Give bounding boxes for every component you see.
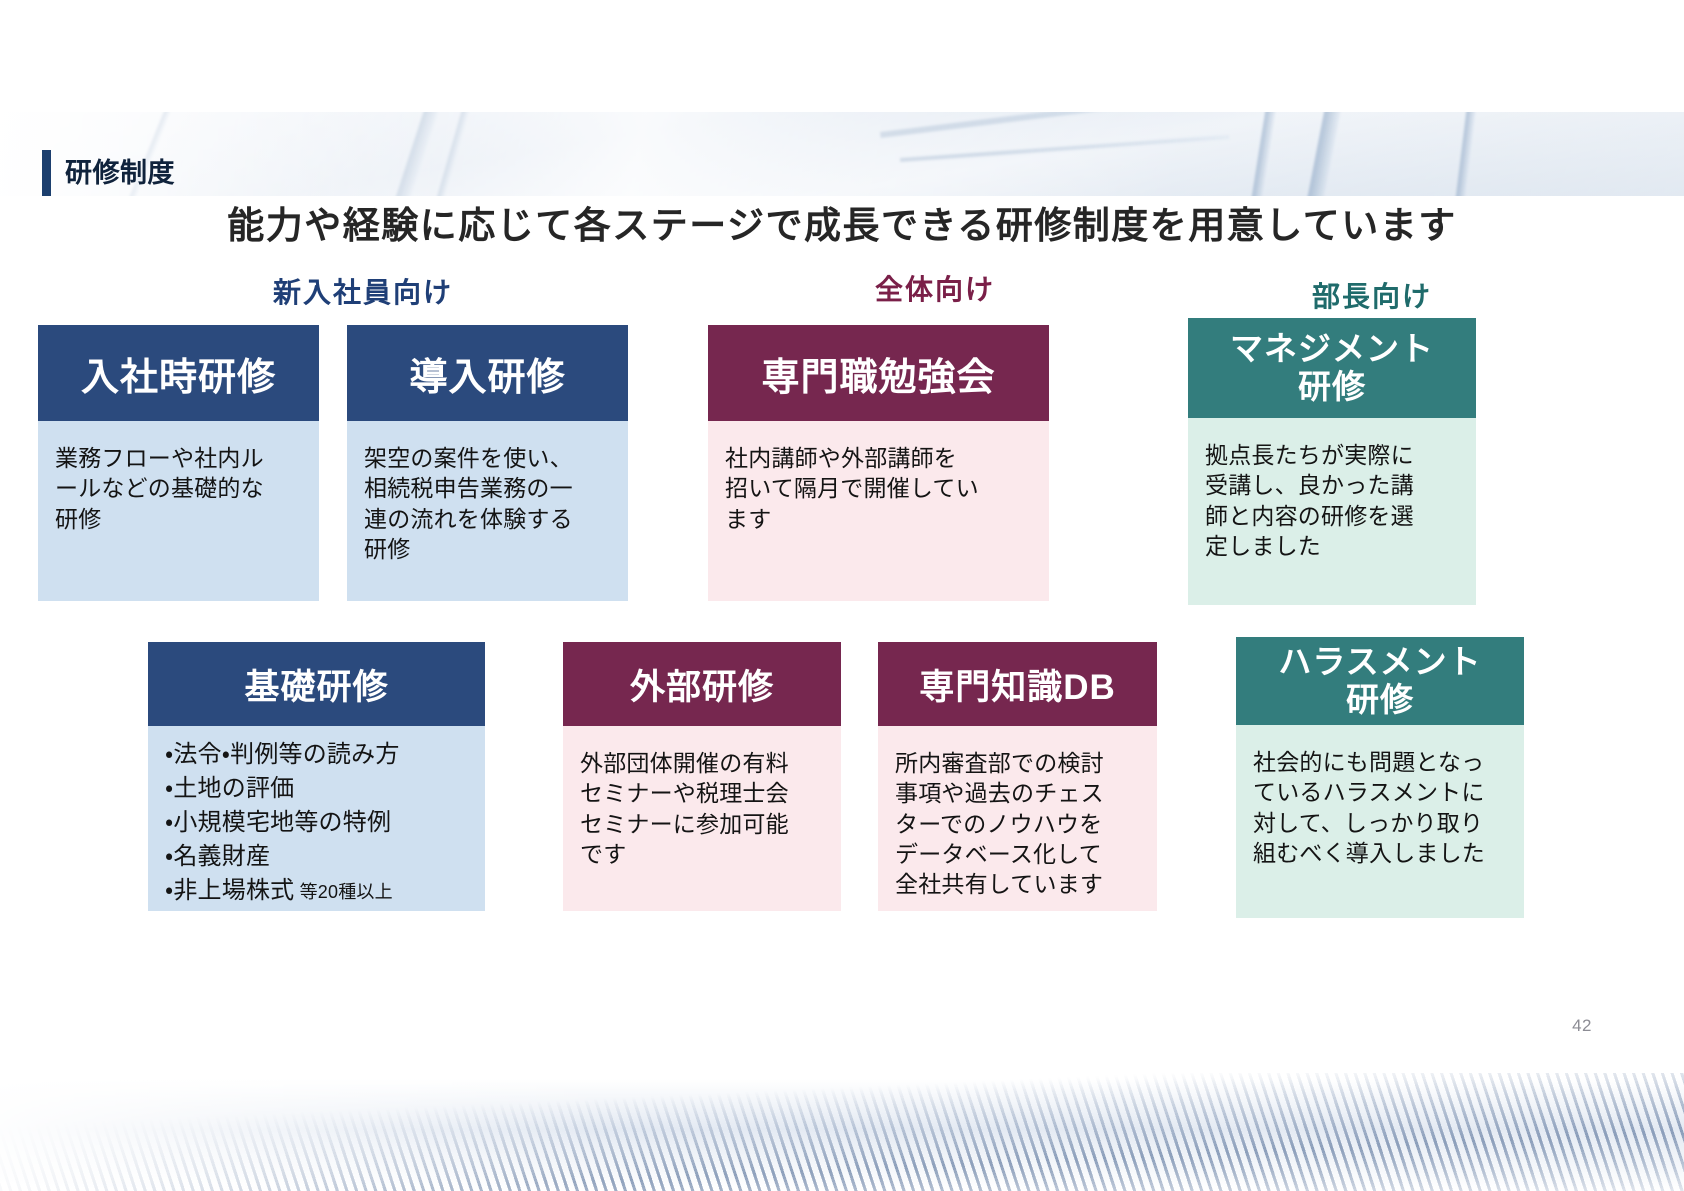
audience-label-new-employees: 新入社員向け [273, 271, 453, 311]
training-card-benkyokai[interactable]: 専門職勉強会 社内講師や外部講師を 招いて隔月で開催してい ます [708, 325, 1049, 601]
page-number: 42 [1572, 1016, 1592, 1036]
footer-decorative-graphic [0, 1073, 1684, 1191]
list-item-label: ・土地の評価 [165, 775, 294, 802]
list-item: ・土地の評価 [165, 772, 468, 806]
training-card-donyu[interactable]: 導入研修 架空の案件を使い、 相続税申告業務の一 連の流れを体験する 研修 [347, 325, 628, 601]
training-card-db[interactable]: 専門知識DB 所内審査部での検討 事項や過去のチェス ターでのノウハウを データ… [878, 642, 1157, 911]
audience-label-managers: 部長向け [1312, 275, 1432, 315]
training-card-gaibu[interactable]: 外部研修 外部団体開催の有料 セミナーや税理士会 セミナーに参加可能 です [563, 642, 841, 911]
list-item-suffix: 等20種以上 [294, 882, 392, 902]
training-card-donyu-title: 導入研修 [347, 325, 628, 421]
training-card-gaibu-title: 外部研修 [563, 642, 841, 726]
audience-label-all-staff: 全体向け [875, 268, 995, 308]
training-card-harassment[interactable]: ハラスメント 研修 社会的にも問題となっ ているハラスメントに 対して、しっかり… [1236, 637, 1524, 918]
training-card-donyu-body: 架空の案件を使い、 相続税申告業務の一 連の流れを体験する 研修 [347, 421, 628, 601]
list-item-label: ・名義財産 [165, 843, 270, 870]
training-card-management-title: マネジメント 研修 [1188, 318, 1476, 418]
training-card-harassment-body: 社会的にも問題となっ ているハラスメントに 対して、しっかり取り 組むべく導入し… [1236, 725, 1524, 918]
list-item: ・非上場株式 等20種以上 [165, 874, 468, 908]
training-card-management-body: 拠点長たちが実際に 受講し、良かった講 師と内容の研修を選 定しました [1188, 418, 1476, 605]
list-item-label: ・非上場株式 [165, 877, 294, 904]
slide-label-accent-bar [42, 150, 51, 196]
slide-label: 研修制度 [42, 150, 175, 196]
list-item: ・小規模宅地等の特例 [165, 806, 468, 840]
list-item-label: ・小規模宅地等の特例 [165, 809, 391, 836]
training-card-nyusha-body: 業務フローや社内ル ールなどの基礎的な 研修 [38, 421, 319, 601]
training-card-db-title: 専門知識DB [878, 642, 1157, 726]
training-card-management[interactable]: マネジメント 研修 拠点長たちが実際に 受講し、良かった講 師と内容の研修を選 … [1188, 318, 1476, 605]
slide-label-text: 研修制度 [65, 160, 175, 187]
training-card-gaibu-body: 外部団体開催の有料 セミナーや税理士会 セミナーに参加可能 です [563, 726, 841, 911]
training-card-harassment-title: ハラスメント 研修 [1236, 637, 1524, 725]
training-card-kiso[interactable]: 基礎研修 ・法令・判例等の読み方・土地の評価・小規模宅地等の特例・名義財産・非上… [148, 642, 485, 911]
list-item: ・法令・判例等の読み方 [165, 738, 468, 772]
list-item-label: ・法令・判例等の読み方 [165, 741, 400, 768]
training-card-nyusha-title: 入社時研修 [38, 325, 319, 421]
training-card-db-body: 所内審査部での検討 事項や過去のチェス ターでのノウハウを データベース化して … [878, 726, 1157, 911]
page-title: 能力や経験に応じて各ステージで成長できる研修制度を用意しています [0, 195, 1684, 249]
training-card-kiso-title: 基礎研修 [148, 642, 485, 726]
list-item: ・名義財産 [165, 840, 468, 874]
training-card-nyusha[interactable]: 入社時研修 業務フローや社内ル ールなどの基礎的な 研修 [38, 325, 319, 601]
training-card-benkyokai-body: 社内講師や外部講師を 招いて隔月で開催してい ます [708, 421, 1049, 601]
training-card-benkyokai-title: 専門職勉強会 [708, 325, 1049, 421]
header-banner-image [0, 112, 1684, 196]
training-card-kiso-bullets: ・法令・判例等の読み方・土地の評価・小規模宅地等の特例・名義財産・非上場株式 等… [148, 726, 485, 911]
